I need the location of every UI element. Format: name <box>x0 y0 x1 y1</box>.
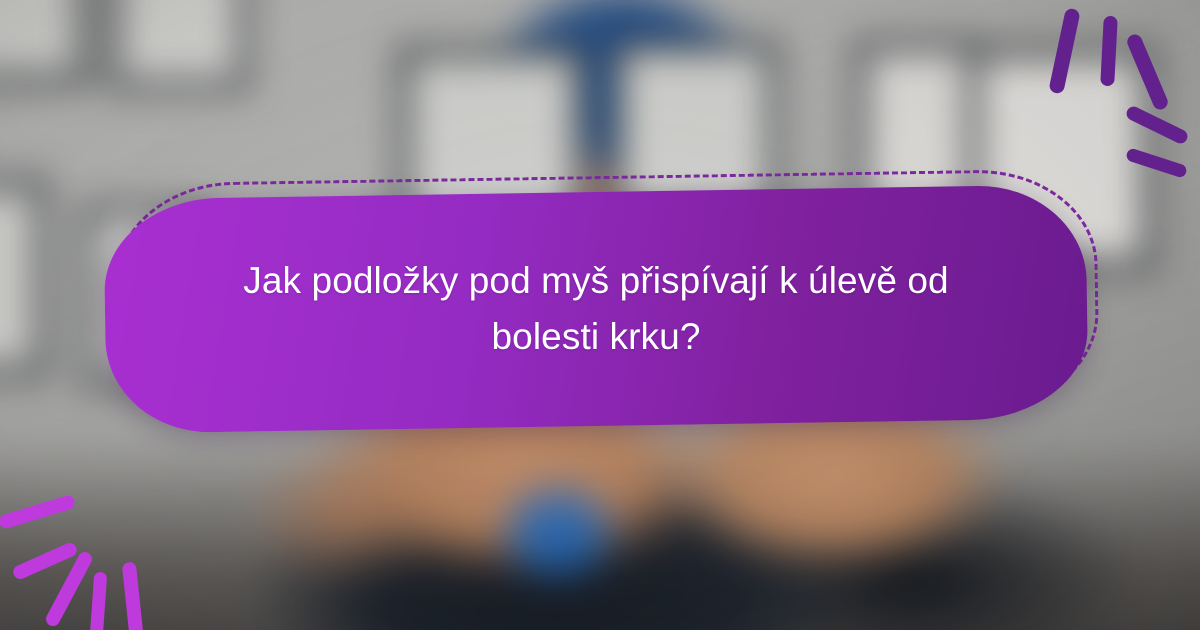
question-title: Jak podložky pod myš přispívají k úlevě … <box>206 253 986 365</box>
share-card-canvas: Jak podložky pod myš přispívají k úlevě … <box>0 0 1200 630</box>
picture-frame <box>0 177 49 378</box>
picture-frame <box>107 0 250 92</box>
picture-frame <box>0 0 91 87</box>
question-card: Jak podložky pod myš přispívají k úlevě … <box>103 184 1089 433</box>
